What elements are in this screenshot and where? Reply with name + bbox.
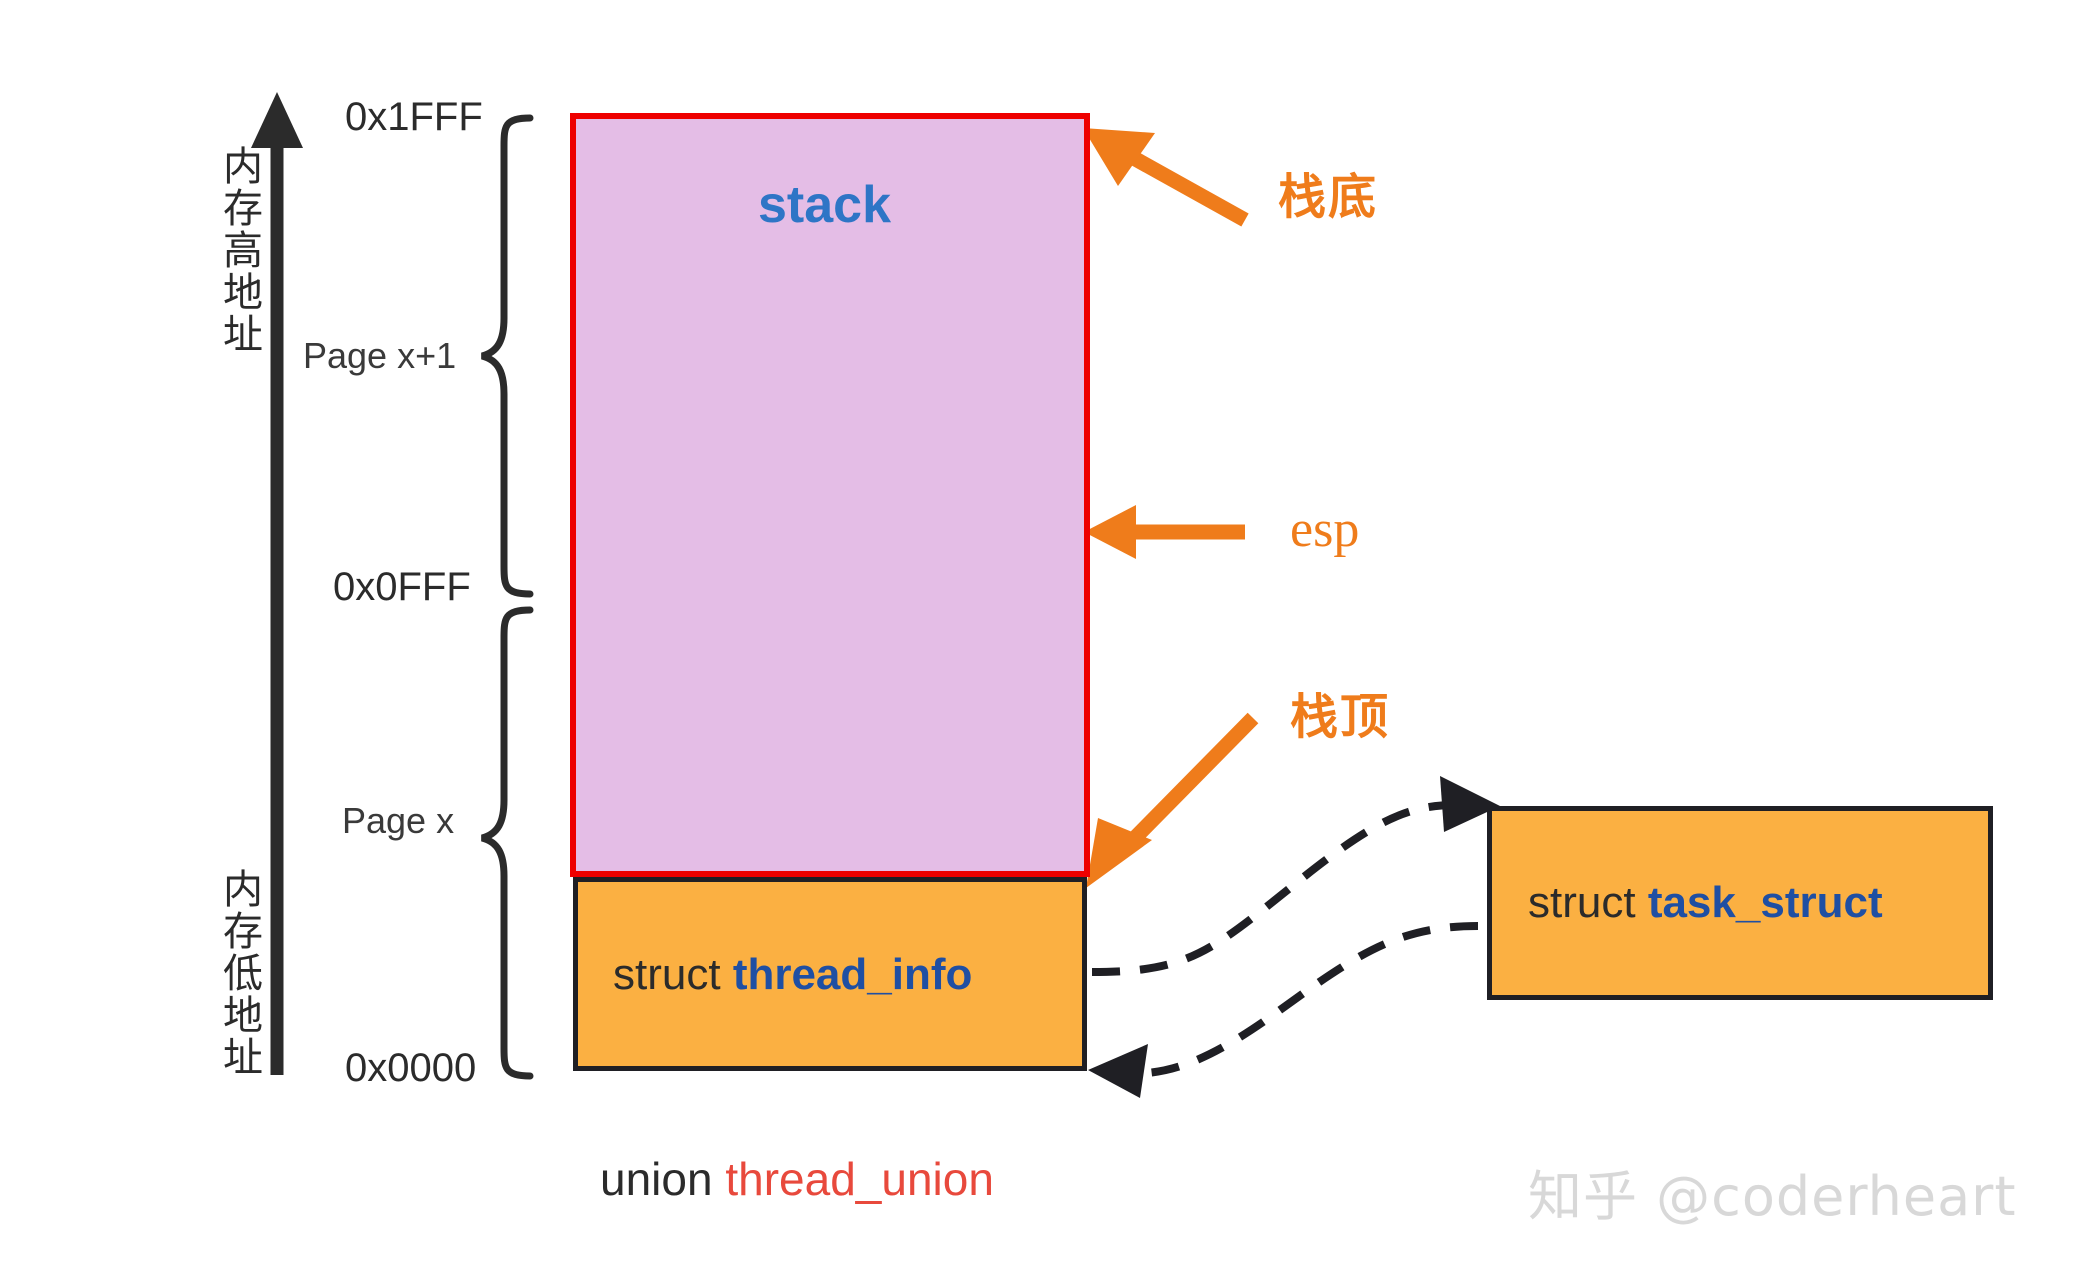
diagram-canvas: 内存高地址 内存低地址 0x1FFF 0x0FFF 0x0000 Page x+… [0, 0, 2073, 1277]
union-caption-prefix: union [600, 1153, 713, 1205]
thread-info-to-task-struct-link [1092, 805, 1480, 972]
page-label-x-plus-1: Page x+1 [303, 335, 456, 377]
annotation-stack-top: 栈顶 [1290, 677, 1390, 747]
task-struct-prefix: struct [1528, 878, 1636, 927]
task-struct-to-thread-info-link [1110, 926, 1478, 1074]
axis-label-high-address: 内存高地址 [210, 145, 268, 355]
task-struct-name: task_struct [1648, 878, 1883, 927]
address-label-0x1FFF: 0x1FFF [345, 95, 483, 140]
stack-bottom-pointer-arrow-icon [1083, 128, 1245, 220]
link-arrowhead-to-thread-info [1088, 1044, 1148, 1098]
esp-pointer-arrow-icon [1084, 505, 1245, 559]
brace-page-x-icon [482, 610, 530, 1076]
union-caption: union thread_union [600, 1152, 994, 1206]
brace-page-x-plus-1-icon [482, 118, 530, 594]
annotation-stack-bottom: 栈底 [1278, 157, 1378, 227]
stack-label: stack [758, 175, 891, 235]
thread-info-prefix: struct [613, 950, 721, 999]
annotation-esp: esp [1290, 500, 1359, 559]
union-caption-name: thread_union [725, 1153, 994, 1205]
address-label-0x0FFF: 0x0FFF [333, 565, 471, 610]
task-struct-label: struct task_struct [1528, 878, 1883, 928]
axis-label-low-address: 内存低地址 [210, 868, 268, 1078]
page-label-x: Page x [342, 800, 454, 842]
thread-info-label: struct thread_info [613, 950, 972, 1000]
stack-top-pointer-arrow-icon [1086, 718, 1253, 888]
watermark-zhihu: 知乎 @coderheart [1528, 1152, 2017, 1231]
address-label-0x0000: 0x0000 [345, 1046, 476, 1091]
thread-info-name: thread_info [733, 950, 973, 999]
